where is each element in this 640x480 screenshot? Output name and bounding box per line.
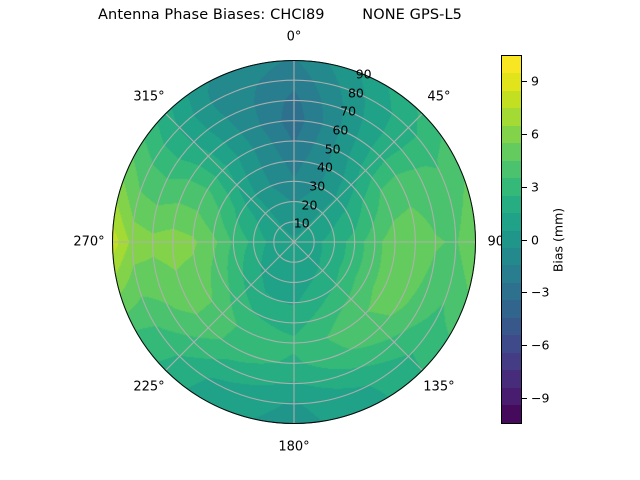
azimuth-tick-label-45: 45° xyxy=(427,90,450,105)
colorbar-gradient xyxy=(501,55,522,424)
colorbar-tick xyxy=(522,240,527,241)
colorbar-band xyxy=(502,300,521,317)
colorbar-band xyxy=(502,335,521,352)
colorbar-band xyxy=(502,143,521,160)
colorbar-tick-label: −9 xyxy=(531,390,549,405)
radial-tick-label-30: 30 xyxy=(309,178,325,193)
colorbar-axis-label: Bias (mm) xyxy=(551,208,566,272)
colorbar-tick-label: 9 xyxy=(531,74,539,89)
phase-bias-heatmap xyxy=(112,60,476,424)
colorbar-tick xyxy=(522,187,527,188)
colorbar xyxy=(501,55,522,424)
colorbar-band xyxy=(502,213,521,230)
colorbar-tick xyxy=(522,134,527,135)
colorbar-band xyxy=(502,161,521,178)
polar-field-clip xyxy=(112,60,476,424)
azimuth-tick-label-315: 315° xyxy=(133,90,164,105)
colorbar-band xyxy=(502,265,521,282)
colorbar-band xyxy=(502,231,521,248)
colorbar-band xyxy=(502,196,521,213)
colorbar-tick-label: 3 xyxy=(531,179,539,194)
colorbar-band xyxy=(502,388,521,405)
colorbar-tick xyxy=(522,345,527,346)
polar-axes xyxy=(112,60,476,424)
colorbar-band xyxy=(502,370,521,387)
colorbar-tick-label: 0 xyxy=(531,232,539,247)
radial-tick-label-80: 80 xyxy=(348,85,364,100)
colorbar-band xyxy=(502,126,521,143)
colorbar-tick-label: 6 xyxy=(531,127,539,142)
colorbar-tick xyxy=(522,398,527,399)
azimuth-tick-label-0: 0° xyxy=(287,30,302,45)
azimuth-tick-label-270: 270° xyxy=(73,235,104,250)
colorbar-band xyxy=(502,283,521,300)
colorbar-tick xyxy=(522,81,527,82)
colorbar-band xyxy=(502,178,521,195)
radial-tick-label-60: 60 xyxy=(332,122,348,137)
radial-tick-label-20: 20 xyxy=(302,197,318,212)
figure: Antenna Phase Biases: CHCI89 NONE GPS-L5… xyxy=(0,0,640,480)
azimuth-tick-label-135: 135° xyxy=(423,379,454,394)
radial-tick-label-40: 40 xyxy=(317,160,333,175)
colorbar-band xyxy=(502,73,521,90)
colorbar-band xyxy=(502,405,521,422)
colorbar-band xyxy=(502,108,521,125)
azimuth-tick-label-180: 180° xyxy=(278,440,309,455)
colorbar-band xyxy=(502,353,521,370)
radial-tick-label-10: 10 xyxy=(294,216,310,231)
colorbar-band xyxy=(502,91,521,108)
colorbar-band xyxy=(502,56,521,73)
radial-tick-label-50: 50 xyxy=(325,141,341,156)
colorbar-tick-label: −6 xyxy=(531,337,549,352)
figure-title: Antenna Phase Biases: CHCI89 NONE GPS-L5 xyxy=(0,7,560,23)
colorbar-band xyxy=(502,248,521,265)
azimuth-tick-label-225: 225° xyxy=(133,379,164,394)
colorbar-tick xyxy=(522,292,527,293)
radial-tick-label-70: 70 xyxy=(340,104,356,119)
colorbar-tick-label: −3 xyxy=(531,285,549,300)
radial-tick-label-90: 90 xyxy=(356,66,372,81)
colorbar-band xyxy=(502,318,521,335)
